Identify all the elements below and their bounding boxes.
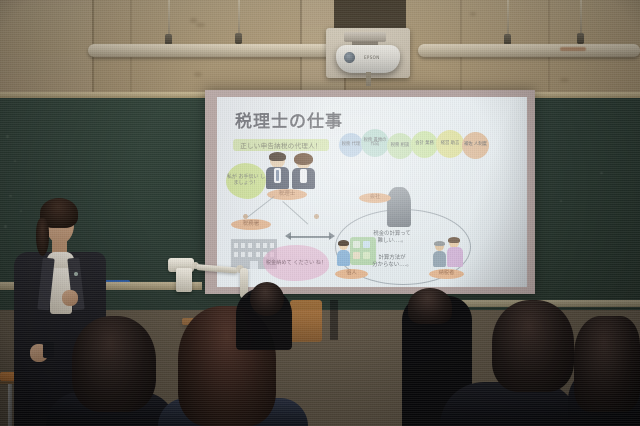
slide-bubble-4: 経営 助言 [436,130,464,158]
student-chair [290,300,322,342]
slide-bubble-5: 補佐 人制度 [462,132,489,159]
figure-tax-accountant-male [265,153,291,191]
presentation-remote[interactable] [43,342,54,358]
figure-tax-accountant-female [291,154,317,191]
slide-label-taxpayer: 納税者 [429,269,464,279]
slide-right-text-2: 計算方法が 分からない‥‥。 [357,255,427,270]
slide-bubble-0: 税務 代理 [339,133,363,157]
ceiling-rail [88,44,340,57]
arrow-head-left [285,232,291,240]
wall-stain [194,72,202,77]
chalk-dust [6,135,9,138]
student-head [72,316,156,412]
slide-cloud-text: 税金納めて ください ね！ [263,245,329,281]
connector-node [314,214,319,219]
document-camera-body [176,268,192,292]
presenter-hand-raised [62,290,78,306]
projection-screen[interactable]: 税理士の仕事 正しい申告納税の代理人！ 税務 代理 税務 書類の 作成 税務 相… [217,97,527,287]
classroom-scene: EPSON 税理士の仕事 正しい申告納税の代理人！ 税務 代理 税務 書類の 作… [0,0,640,426]
wall-stain [190,18,197,23]
double-arrow [289,236,331,238]
slide-label-individual: 個人 [335,269,368,279]
student-head [408,288,452,324]
student-head [250,282,284,316]
slide-label-tax-office: 税務署 [231,219,271,230]
student-head [492,300,574,392]
projector-stem [366,72,371,86]
chalk-dust [20,210,22,212]
student-head [574,316,640,412]
slide-bubble-2: 税務 相談 [387,133,413,159]
chalk-dust [14,160,16,162]
student-far [330,300,338,340]
projector-brand-label: EPSON [364,55,380,60]
rail-clip [235,33,242,44]
rail-mark [560,47,586,51]
slide-right-text-1: 税金の計算って 難しい‥‥。 [357,231,427,246]
slide-label-company: 会社 [359,193,391,203]
connector-line [247,196,275,218]
ceiling-rail [418,44,640,57]
chalk-dust [9,195,12,197]
slide-bubble-1: 税務 書類の 作成 [361,129,389,157]
figure-taxpayer-right [433,237,467,269]
chalk-dust [600,172,603,174]
slide-bubble-3: 会計 業務 [411,131,438,158]
connector-line [282,201,308,225]
wall-stain [560,78,569,82]
arrow-head-right [329,232,335,240]
chalk-dust [560,200,562,202]
building-tower [387,187,411,227]
wall-stain [196,23,205,27]
wall-stain [470,12,476,16]
slide-title: 税理士の仕事 [235,107,343,132]
desk-leg [8,384,12,426]
projector-lens [344,52,355,63]
slide-speech-left: 私が お手伝い しましょう！ [226,163,266,199]
presenter-ponytail [36,218,49,256]
presenter-lapel-pin [74,272,78,276]
chalk-dust [4,225,7,228]
wall-panel [0,0,92,96]
rail-clip [577,33,584,44]
slide-tagline: 正しい申告納税の代理人！ [233,139,329,151]
